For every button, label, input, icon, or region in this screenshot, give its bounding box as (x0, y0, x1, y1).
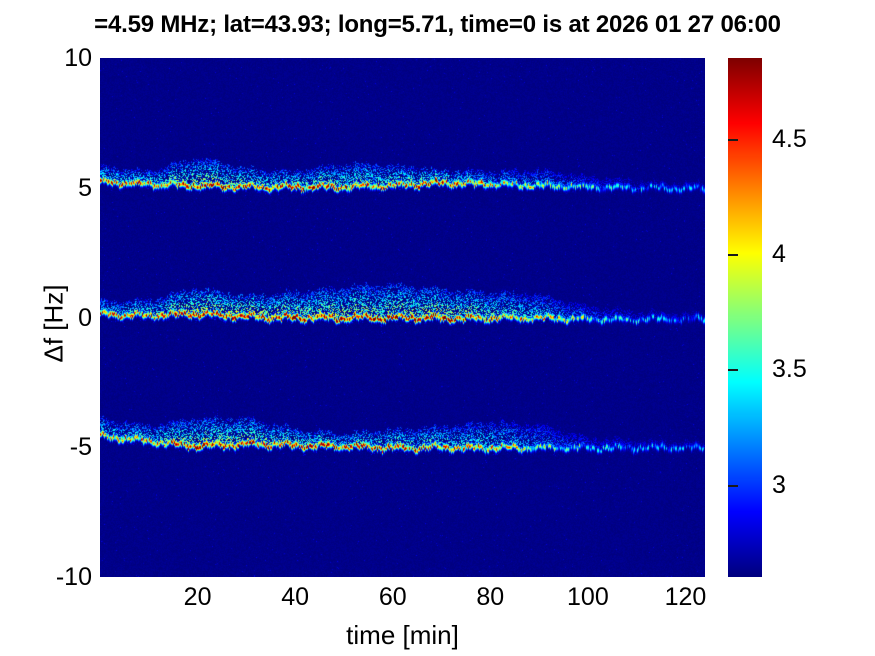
x-axis-label: time [min] (100, 622, 705, 648)
colorbar-tick-label: 4 (772, 242, 786, 267)
colorbar-tick-mark (728, 369, 738, 371)
page-title: =4.59 MHz; lat=43.93; long=5.71, time=0 … (0, 10, 875, 40)
x-axis-tick-labels: 20406080100120 (100, 585, 705, 619)
spectrogram-image (100, 58, 705, 577)
x-tick-label: 120 (625, 585, 745, 610)
colorbar-tick-mark (728, 485, 738, 487)
colorbar-tick-labels: 4.543.53 (728, 58, 868, 577)
colorbar-tick-mark (728, 139, 738, 141)
colorbar-tick-label: 3 (772, 473, 786, 498)
y-axis-label: Δf [Hz] (39, 64, 70, 584)
plot-area (100, 58, 705, 577)
colorbar-tick-mark (728, 254, 738, 256)
colorbar-tick-label: 3.5 (772, 357, 807, 382)
colorbar-tick-label: 4.5 (772, 127, 807, 152)
y-axis-label-wrap: Δf [Hz] (14, 58, 44, 577)
doppler-spectrogram-figure: =4.59 MHz; lat=43.93; long=5.71, time=0 … (0, 0, 875, 656)
